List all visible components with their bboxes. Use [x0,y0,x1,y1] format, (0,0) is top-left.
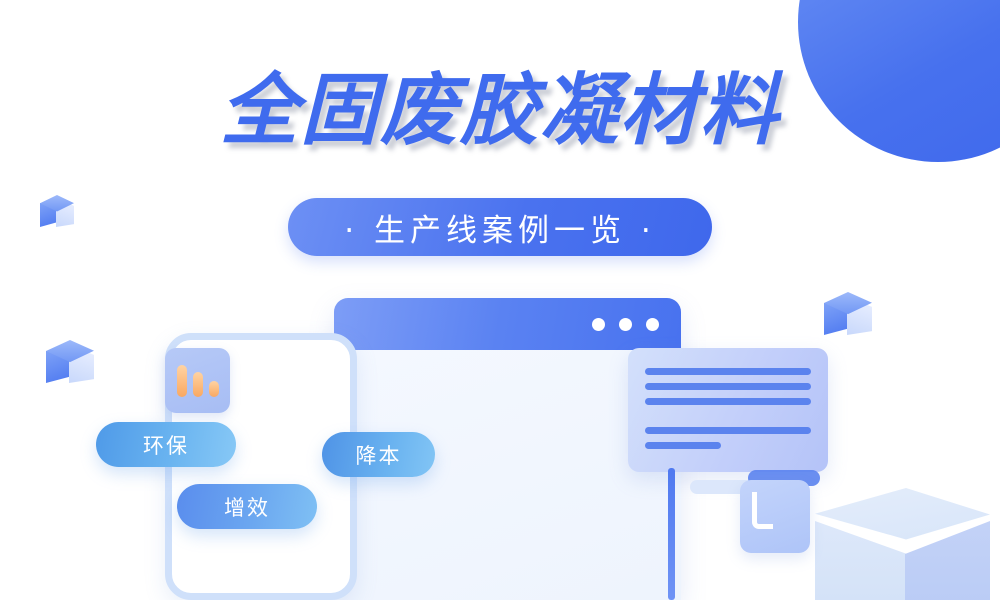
chart-bar-2 [193,372,203,397]
window-dot-2-icon [619,318,632,331]
tag-label: 增效 [224,492,270,522]
folded-note-icon [740,480,810,553]
chart-bar-3 [209,381,219,397]
browser-edge-accent [668,468,675,600]
poster-canvas: 全固废胶凝材料 · 生产线案例一览 · 环保 增效 [0,0,1000,600]
doc-line-2 [645,383,811,390]
tag-label: 降本 [356,440,402,470]
browser-titlebar [334,298,681,350]
small-cube-icon-3 [824,292,872,344]
bar-chart-icon [165,348,230,413]
doc-line-5 [645,442,721,449]
note-fold-mark [752,492,773,529]
page-title: 全固废胶凝材料 [0,72,1000,150]
tag-jiangben[interactable]: 降本 [322,432,435,477]
doc-line-4 [645,427,811,434]
doc-line-1 [645,368,811,375]
chart-bar-1 [177,365,187,397]
subtitle-text: · 生产线案例一览 · [344,205,655,250]
big-cube-decor [815,488,990,600]
doc-line-3 [645,398,811,405]
tag-huanbao[interactable]: 环保 [96,422,236,467]
subtitle-pill: · 生产线案例一览 · [288,198,712,256]
window-dot-1-icon [592,318,605,331]
tag-zengxiao[interactable]: 增效 [177,484,317,529]
tag-label: 环保 [143,430,189,460]
small-cube-icon-2 [46,340,94,392]
window-dot-3-icon [646,318,659,331]
document-card [628,348,828,472]
small-cube-icon-1 [40,195,74,233]
